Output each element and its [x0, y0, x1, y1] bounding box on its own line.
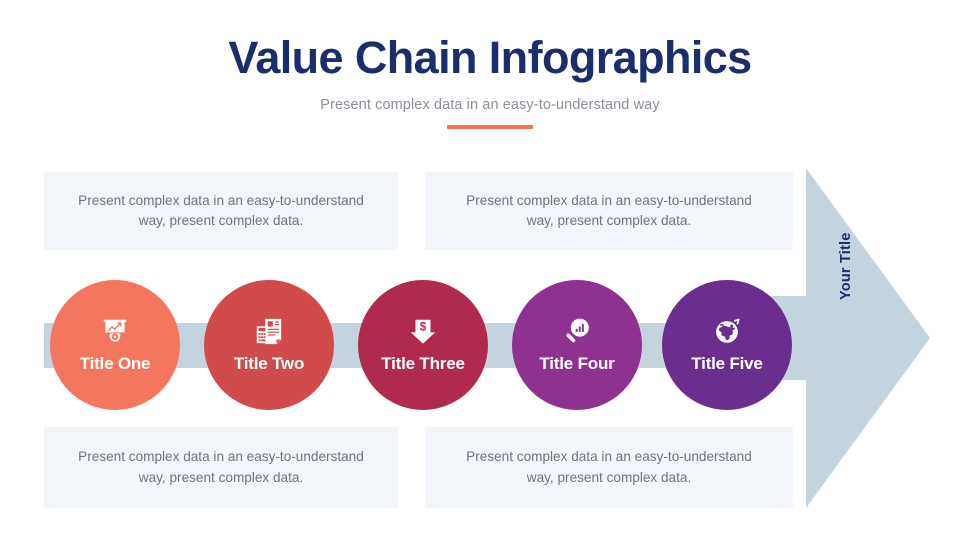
globe-icon: [712, 316, 742, 346]
description-text: Present complex data in an easy-to-under…: [70, 447, 372, 488]
step-label: Title One: [80, 354, 151, 374]
step-label: Title Four: [539, 354, 614, 374]
step-circle-title-three[interactable]: $ Title Three: [358, 280, 488, 410]
description-box-top-right: Present complex data in an easy-to-under…: [425, 172, 793, 250]
page-title: Value Chain Infographics: [0, 34, 980, 83]
svg-text:$: $: [420, 320, 427, 333]
step-label: Title Three: [381, 354, 464, 374]
arrow-title-label: Your Title: [838, 232, 854, 300]
step-circle-title-two[interactable]: Title Two: [204, 280, 334, 410]
step-circle-title-one[interactable]: Title One: [50, 280, 180, 410]
step-label: Title Two: [234, 354, 304, 374]
page-subtitle: Present complex data in an easy-to-under…: [0, 97, 980, 113]
description-box-bottom-left: Present complex data in an easy-to-under…: [44, 427, 398, 508]
title-accent-underline: [447, 125, 533, 129]
step-circle-title-five[interactable]: Title Five: [662, 280, 792, 410]
growth-chart-board-icon: [100, 316, 130, 346]
description-text: Present complex data in an easy-to-under…: [451, 447, 767, 488]
description-text: Present complex data in an easy-to-under…: [451, 191, 767, 232]
description-box-top-left: Present complex data in an easy-to-under…: [44, 172, 398, 250]
infographic-slide: Your Title Value Chain Infographics Pres…: [0, 0, 980, 551]
invoice-calculator-icon: [254, 316, 284, 346]
dollar-down-arrow-icon: $: [408, 316, 438, 346]
step-circle-title-four[interactable]: Title Four: [512, 280, 642, 410]
magnifier-bar-chart-icon: [562, 316, 592, 346]
description-text: Present complex data in an easy-to-under…: [70, 191, 372, 232]
description-box-bottom-right: Present complex data in an easy-to-under…: [425, 427, 793, 508]
step-label: Title Five: [691, 354, 762, 374]
slide-header: Value Chain Infographics Present complex…: [0, 34, 980, 129]
